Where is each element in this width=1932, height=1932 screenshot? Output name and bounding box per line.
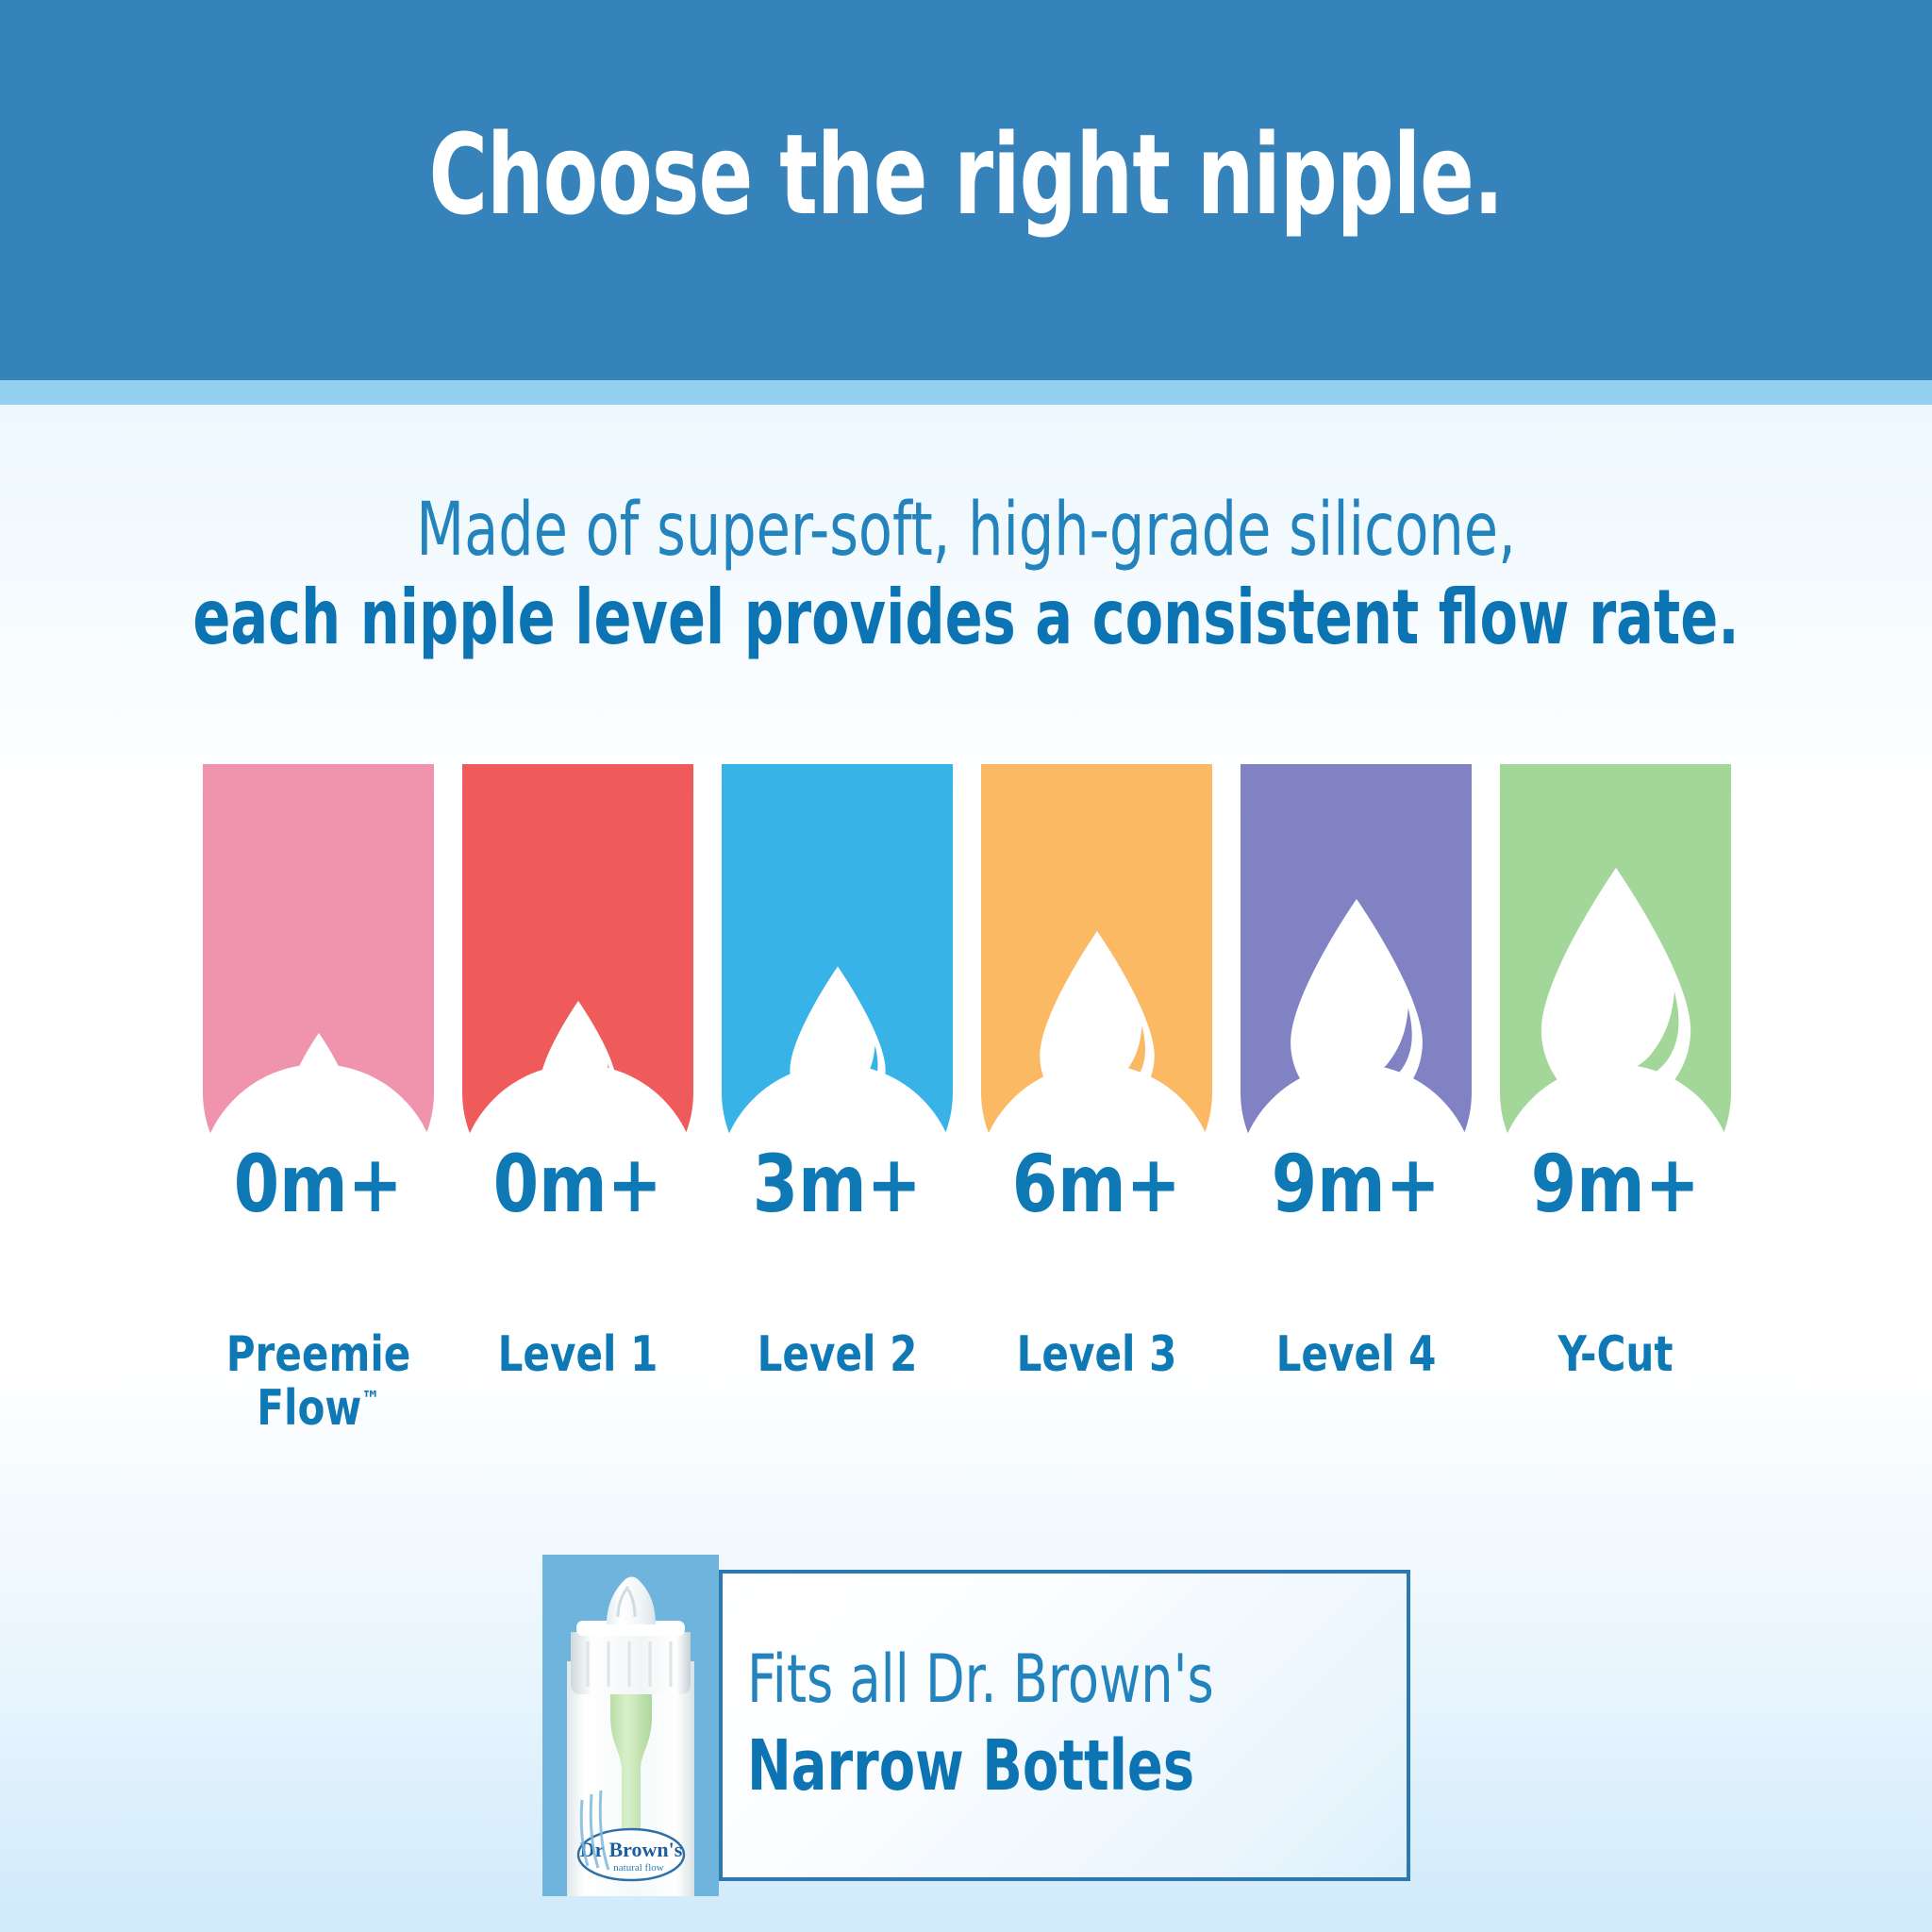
age-bubble: 3m+: [718, 1064, 958, 1304]
level-name-label: Level 4: [1226, 1328, 1486, 1382]
level-name-label: Level 1: [448, 1328, 708, 1382]
level-name-label: Level 3: [967, 1328, 1226, 1382]
bottle-logo-subtext: natural flow: [613, 1862, 664, 1874]
age-label: 3m+: [753, 1144, 922, 1224]
level-column[interactable]: 0m+Level 1: [462, 764, 693, 1292]
nipple-level-chart: 0m+PreemieFlow™0m+Level 13m+Level 26m+Le…: [203, 764, 1731, 1292]
fits-bottles-card: Dr Brown's natural flow Fits all Dr. Bro…: [542, 1555, 1410, 1896]
age-label: 9m+: [1531, 1144, 1700, 1224]
trademark-symbol: ™: [361, 1387, 379, 1413]
bottle-photo: Dr Brown's natural flow: [542, 1555, 719, 1896]
age-bubble: 9m+: [1496, 1064, 1736, 1304]
subtitle-block: Made of super-soft, high-grade silicone,…: [0, 491, 1932, 663]
age-bubble: 9m+: [1237, 1064, 1476, 1304]
header-band: Choose the right nipple.: [0, 0, 1932, 380]
age-bubble: 0m+: [199, 1064, 439, 1304]
age-label: 6m+: [1012, 1144, 1181, 1224]
level-column[interactable]: 9m+Y-Cut: [1500, 764, 1731, 1292]
subtitle-line-2: each nipple level provides a consistent …: [174, 574, 1757, 662]
level-name-label: Level 2: [708, 1328, 967, 1382]
level-column[interactable]: 0m+PreemieFlow™: [203, 764, 434, 1292]
page-title: Choose the right nipple.: [193, 119, 1739, 230]
age-label: 0m+: [493, 1144, 662, 1224]
level-column[interactable]: 3m+Level 2: [722, 764, 953, 1292]
fits-line-1: Fits all Dr. Brown's: [747, 1645, 1314, 1715]
bottle-illustration: Dr Brown's natural flow: [554, 1572, 708, 1896]
subtitle-line-1: Made of super-soft, high-grade silicone,: [155, 491, 1777, 570]
age-label: 9m+: [1272, 1144, 1441, 1224]
infographic-page: Choose the right nipple. Made of super-s…: [0, 0, 1932, 1932]
header-accent-strip: [0, 380, 1932, 405]
level-column[interactable]: 6m+Level 3: [981, 764, 1212, 1292]
level-name-label: Y-Cut: [1486, 1328, 1745, 1382]
age-bubble: 0m+: [458, 1064, 698, 1304]
fits-line-2: Narrow Bottles: [747, 1727, 1301, 1806]
level-column[interactable]: 9m+Level 4: [1241, 764, 1472, 1292]
age-label: 0m+: [234, 1144, 403, 1224]
level-name-label: PreemieFlow™: [189, 1328, 448, 1436]
age-bubble: 6m+: [977, 1064, 1217, 1304]
fits-text-box: Fits all Dr. Brown's Narrow Bottles: [719, 1570, 1410, 1881]
